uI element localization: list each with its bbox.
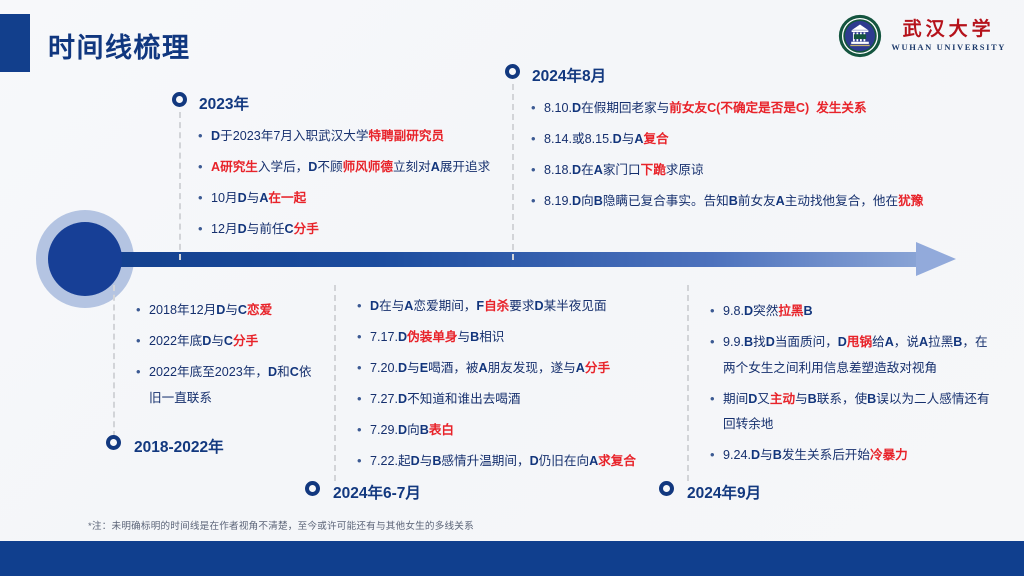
list-item: 7.29.D向B表白 (355, 418, 655, 444)
timeline-start-dot (48, 222, 122, 296)
list-item: 7.20.D与E喝酒，被A朋友发现，遂与A分手 (355, 356, 655, 382)
list-item: 8.19.D向B隐瞒已复合事实。告知B前女友A主动找他复合，他在犹豫 (529, 189, 959, 215)
node-items-2023: D于2023年7月入职武汉大学特聘副研究员 A研究生入学后，D不顾师风师德立刻对… (196, 124, 498, 243)
node-marker-2024-06-07[interactable] (305, 481, 320, 496)
node-label-2023: 2023年 (199, 92, 249, 114)
list-item: 12月D与前任C分手 (196, 217, 498, 243)
slide-root: 时间线梳理 武汉大学 WUHAN UNIVERSITY (0, 0, 1024, 576)
list-item: 9.24.D与B发生关系后开始冷暴力 (708, 443, 998, 469)
logo-name-cn: 武汉大学 (903, 20, 995, 39)
node-connector-2024-09 (687, 285, 689, 481)
list-item: 9.8.D突然拉黑B (708, 299, 998, 325)
node-items-2024-06-07: D在与A恋爱期间，F自杀要求D某半夜见面 7.17.D伪装单身与B相识 7.20… (355, 294, 655, 475)
node-connector-2023 (179, 112, 181, 260)
node-marker-2023[interactable] (172, 92, 187, 107)
node-label-2024-08: 2024年8月 (532, 64, 606, 86)
list-item: D于2023年7月入职武汉大学特聘副研究员 (196, 124, 498, 150)
footer-bar (0, 541, 1024, 576)
timeline-axis (78, 249, 958, 269)
wuhan-university-logo: 武汉大学 WUHAN UNIVERSITY (838, 14, 1006, 58)
list-item: 期间D又主动与B联系，使B误以为二人感情还有回转余地 (708, 387, 998, 438)
footnote: *注：未明确标明的时间线是在作者视角不清楚，至今或许可能还有与其他女生的多线关系 (88, 518, 474, 532)
university-seal-icon (838, 14, 882, 58)
list-item: 10月D与A在一起 (196, 186, 498, 212)
node-label-2018-2022: 2018-2022年 (134, 435, 224, 457)
node-connector-2024-06-07 (334, 285, 336, 481)
logo-name-en: WUHAN UNIVERSITY (891, 43, 1006, 52)
node-label-2024-06-07: 2024年6-7月 (333, 481, 421, 503)
logo-wordmark: 武汉大学 WUHAN UNIVERSITY (891, 20, 1006, 52)
list-item: 8.18.D在A家门口下跪求原谅 (529, 158, 959, 184)
node-marker-2024-09[interactable] (659, 481, 674, 496)
page-title: 时间线梳理 (48, 26, 191, 65)
node-items-2024-09: 9.8.D突然拉黑B 9.9.B找D当面质问，D甩锅给A，说A拉黑B，在两个女生… (708, 299, 998, 469)
node-marker-2018-2022[interactable] (106, 435, 121, 450)
timeline-arrow-head (916, 242, 956, 276)
list-item: 8.14.或8.15.D与A复合 (529, 127, 959, 153)
node-items-2024-08: 8.10.D在假期回老家与前女友C(不确定是否是C) 发生关系 8.14.或8.… (529, 96, 959, 215)
list-item: 2022年底至2023年，D和C依旧一直联系 (134, 360, 319, 411)
node-label-2024-09: 2024年9月 (687, 481, 761, 503)
list-item: 7.27.D不知道和谁出去喝酒 (355, 387, 655, 413)
list-item: 2018年12月D与C恋爱 (134, 298, 319, 324)
list-item: D在与A恋爱期间，F自杀要求D某半夜见面 (355, 294, 655, 320)
node-items-2018-2022: 2018年12月D与C恋爱 2022年底D与C分手 2022年底至2023年，D… (134, 298, 319, 411)
timeline-bar (78, 252, 923, 267)
node-marker-2024-08[interactable] (505, 64, 520, 79)
title-accent-block (0, 14, 30, 72)
list-item: 9.9.B找D当面质问，D甩锅给A，说A拉黑B，在两个女生之间利用信息差塑造敌对… (708, 330, 998, 381)
list-item: 7.17.D伪装单身与B相识 (355, 325, 655, 351)
list-item: A研究生入学后，D不顾师风师德立刻对A展开追求 (196, 155, 498, 181)
list-item: 8.10.D在假期回老家与前女友C(不确定是否是C) 发生关系 (529, 96, 959, 122)
node-connector-2024-08 (512, 84, 514, 260)
list-item: 2022年底D与C分手 (134, 329, 319, 355)
list-item: 7.22.起D与B感情升温期间，D仍旧在向A求复合 (355, 449, 655, 475)
node-connector-2018-2022 (113, 285, 115, 437)
